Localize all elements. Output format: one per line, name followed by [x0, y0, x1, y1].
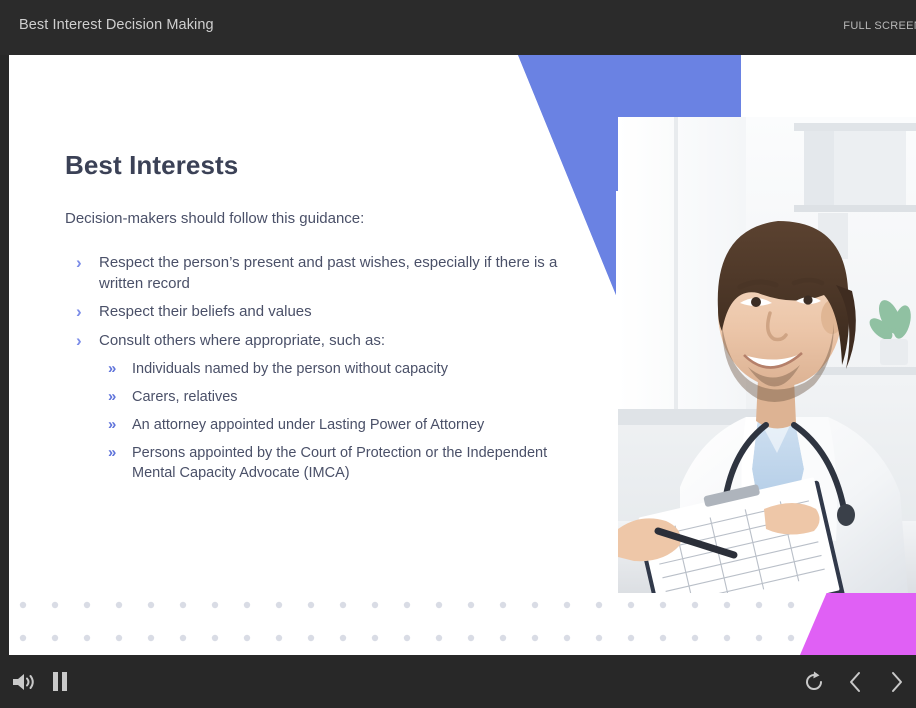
fullscreen-button[interactable]: FULL SCREEN: [843, 20, 916, 32]
list-item: › Respect the person’s present and past …: [65, 253, 565, 294]
top-bar: Best Interest Decision Making FULL SCREE…: [0, 0, 916, 55]
volume-button[interactable]: [10, 670, 36, 694]
subbullet-text: Carers, relatives: [132, 389, 238, 405]
slide-canvas: Best Interests Decision-makers should fo…: [9, 55, 916, 655]
slide-subtitle: Decision-makers should follow this guida…: [65, 210, 565, 227]
decorative-magenta-shape: [9, 585, 916, 655]
previous-slide-button[interactable]: [843, 669, 867, 695]
bullet-text: Respect their beliefs and values: [99, 303, 312, 320]
list-item: » Carers, relatives: [99, 387, 565, 407]
chevron-left-icon: [847, 671, 863, 693]
list-item: » An attorney appointed under Lasting Po…: [99, 415, 565, 435]
subbullet-text: Individuals named by the person without …: [132, 361, 448, 377]
speaker-volume-icon: [11, 672, 35, 692]
dot-grid-texture: [9, 595, 916, 655]
subbullet-text: An attorney appointed under Lasting Powe…: [132, 417, 484, 433]
pause-button[interactable]: [48, 670, 72, 694]
guidance-bullet-list: › Respect the person’s present and past …: [65, 253, 565, 483]
consultees-sub-list: » Individuals named by the person withou…: [99, 359, 565, 483]
pause-icon: [52, 672, 68, 691]
list-item: » Individuals named by the person withou…: [99, 359, 565, 379]
list-item: › Consult others where appropriate, such…: [65, 331, 565, 483]
replay-icon: [803, 671, 825, 693]
list-item: » Persons appointed by the Court of Prot…: [99, 443, 565, 483]
subbullet-text: Persons appointed by the Court of Protec…: [132, 445, 547, 481]
page-title: Best Interests: [65, 150, 565, 181]
course-title: Best Interest Decision Making: [19, 17, 214, 33]
elearning-player: Best Interest Decision Making FULL SCREE…: [0, 0, 916, 708]
player-control-bar: [0, 655, 916, 708]
next-slide-button[interactable]: [885, 669, 909, 695]
chevron-right-icon: ›: [76, 330, 82, 351]
slide-content: Best Interests Decision-makers should fo…: [65, 150, 565, 491]
double-chevron-right-icon: »: [108, 415, 116, 435]
list-item: › Respect their beliefs and values: [65, 302, 565, 323]
double-chevron-right-icon: »: [108, 387, 116, 407]
bullet-text: Respect the person’s present and past wi…: [99, 254, 557, 292]
bullet-text: Consult others where appropriate, such a…: [99, 332, 385, 349]
double-chevron-right-icon: »: [108, 359, 116, 379]
chevron-right-icon: ›: [76, 252, 82, 273]
replay-button[interactable]: [801, 669, 827, 695]
chevron-right-icon: [889, 671, 905, 693]
chevron-right-icon: ›: [76, 301, 82, 322]
doctor-photo: [618, 117, 916, 593]
double-chevron-right-icon: »: [108, 443, 116, 463]
